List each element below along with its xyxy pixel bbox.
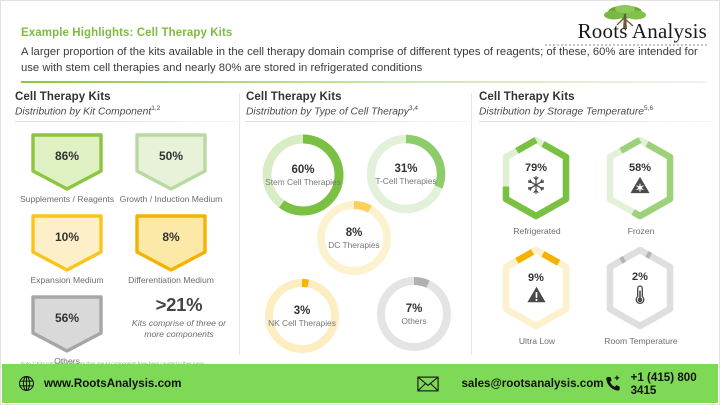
- hexagon-value: 9%: [528, 272, 544, 284]
- footer-phone[interactable]: +1 (415) 800 3415: [604, 371, 704, 397]
- phone-icon: [604, 375, 622, 393]
- column-subtitle-text: Distribution by Type of Cell Therapy: [246, 106, 409, 117]
- column-subtitle: Distribution by Kit Component1,2: [15, 105, 241, 117]
- footnote-ref: 5,6: [644, 105, 653, 112]
- shield-value: 10%: [29, 230, 105, 244]
- shield-grid: 86% Supplements / Reagents 50% Growth / …: [15, 131, 241, 361]
- donut-chart[interactable]: 7% Others: [372, 272, 456, 356]
- shield-shape: 10%: [29, 212, 105, 274]
- donut-value: 3%: [294, 305, 311, 317]
- logo-wordmark: Roots Analysis: [578, 19, 707, 44]
- footer-bar: www.RootsAnalysis.com sales@rootsanalysi…: [2, 364, 718, 403]
- donut-label: NK Cell Therapies: [268, 318, 336, 328]
- globe-icon: [18, 375, 35, 392]
- footer-website-text: www.RootsAnalysis.com: [44, 377, 181, 390]
- footnote-ref: 1,2: [151, 105, 160, 112]
- header-divider: [21, 81, 707, 83]
- footer-phone-text: +1 (415) 800 3415: [631, 371, 704, 397]
- donut-center: 3% NK Cell Therapies: [260, 274, 344, 358]
- shield-tile[interactable]: 8% Differentiation Medium: [127, 212, 231, 285]
- donut-chart[interactable]: 3% NK Cell Therapies: [260, 274, 344, 358]
- shield-value: 50%: [133, 149, 209, 163]
- column-subtitle-text: Distribution by Storage Temperature: [479, 106, 644, 117]
- donut-label: Stem Cell Therapies: [265, 177, 341, 187]
- brand-logo: Roots Analysis: [541, 3, 711, 47]
- hexagon-value: 79%: [525, 162, 547, 174]
- footer-email-text: sales@rootsanalysis.com: [461, 377, 603, 390]
- donut-value: 60%: [291, 164, 314, 176]
- column-subtitle-text: Distribution by Kit Component: [15, 106, 151, 117]
- donut-value: 7%: [406, 303, 423, 315]
- hexagon-center: 79%: [497, 134, 575, 222]
- column-subtitle: Distribution by Storage Temperature5,6: [479, 105, 711, 117]
- donut-label: Others: [401, 316, 426, 326]
- callout-stat: >21% Kits comprise of three or more comp…: [123, 294, 235, 340]
- donut-center: 7% Others: [372, 272, 456, 356]
- page-subtitle: A larger proportion of the kits availabl…: [21, 45, 707, 76]
- donut-center: 8% DC Therapies: [312, 196, 396, 280]
- hexagon-center: 9%: [497, 244, 575, 332]
- column-title: Cell Therapy Kits: [479, 91, 711, 103]
- snowflake-icon: [526, 175, 546, 195]
- footer-email[interactable]: sales@rootsanalysis.com: [417, 376, 603, 392]
- shield-shape: 50%: [133, 131, 209, 193]
- column-storage-temperature: Cell Therapy Kits Distribution by Storag…: [479, 91, 711, 359]
- column-cell-therapy-type: Cell Therapy Kits Distribution by Type o…: [246, 91, 472, 359]
- hexagon-gauge[interactable]: 79% Refrigerated: [497, 134, 575, 222]
- hexagon-value: 2%: [632, 271, 648, 283]
- hexagon-label: Refrigerated: [485, 226, 589, 236]
- hexagon-label: Frozen: [589, 226, 693, 236]
- callout-value: >21%: [123, 294, 235, 316]
- column-title: Cell Therapy Kits: [246, 91, 472, 103]
- hexagon-gauge[interactable]: 9% Ultra Low: [497, 244, 575, 332]
- column-kit-component: Cell Therapy Kits Distribution by Kit Co…: [15, 91, 241, 359]
- hexagon-center: 2%: [601, 244, 679, 332]
- shield-tile[interactable]: 56% Others: [23, 293, 127, 366]
- shield-tile[interactable]: 10% Expansion Medium: [23, 212, 127, 285]
- shield-tile[interactable]: 50% Growth / Induction Medium: [127, 131, 231, 204]
- slide-canvas: Roots Analysis Example Highlights: Cell …: [0, 0, 720, 405]
- column-title: Cell Therapy Kits: [15, 91, 241, 103]
- hexagon-center: 58%: [601, 134, 679, 222]
- shield-value: 86%: [29, 149, 105, 163]
- hexagon-grid: 79% Refrigerated: [479, 122, 711, 352]
- shield-label: Differentiation Medium: [119, 275, 223, 285]
- thermometer-icon: [633, 284, 647, 305]
- envelope-icon: [417, 376, 439, 392]
- column-rule: [15, 121, 241, 122]
- hexagon-value: 58%: [629, 162, 651, 174]
- shield-value: 56%: [29, 311, 105, 325]
- shield-shape: 56%: [29, 293, 105, 355]
- hexagon-label: Ultra Low: [485, 336, 589, 346]
- donut-value: 8%: [346, 227, 363, 239]
- donut-label: DC Therapies: [328, 240, 380, 250]
- hexagon-gauge[interactable]: 2% Room Temperature: [601, 244, 679, 332]
- donut-label: T-Cell Therapies: [375, 176, 436, 186]
- footer-website[interactable]: www.RootsAnalysis.com: [18, 375, 181, 392]
- page-title: Example Highlights: Cell Therapy Kits: [21, 27, 232, 39]
- donut-chart[interactable]: 8% DC Therapies: [312, 196, 396, 280]
- footnote-ref: 3,4: [409, 105, 418, 112]
- callout-caption: Kits comprise of three or more component…: [123, 318, 235, 340]
- hexagon-label: Room Temperature: [589, 336, 693, 346]
- shield-value: 8%: [133, 230, 209, 244]
- donut-grid: 60% Stem Cell Therapies 31% T-Cell Thera…: [246, 122, 472, 352]
- shield-tile[interactable]: 86% Supplements / Reagents: [23, 131, 127, 204]
- column-subtitle: Distribution by Type of Cell Therapy3,4: [246, 105, 472, 117]
- shield-label: Growth / Induction Medium: [119, 194, 223, 204]
- shield-shape: 8%: [133, 212, 209, 274]
- donut-value: 31%: [394, 163, 417, 175]
- shield-shape: 86%: [29, 131, 105, 193]
- shield-label: Supplements / Reagents: [15, 194, 119, 204]
- snowflake-triangle-icon: [629, 175, 651, 195]
- hexagon-gauge[interactable]: 58% Frozen: [601, 134, 679, 222]
- shield-label: Expansion Medium: [15, 275, 119, 285]
- warning-triangle-icon: [526, 285, 547, 304]
